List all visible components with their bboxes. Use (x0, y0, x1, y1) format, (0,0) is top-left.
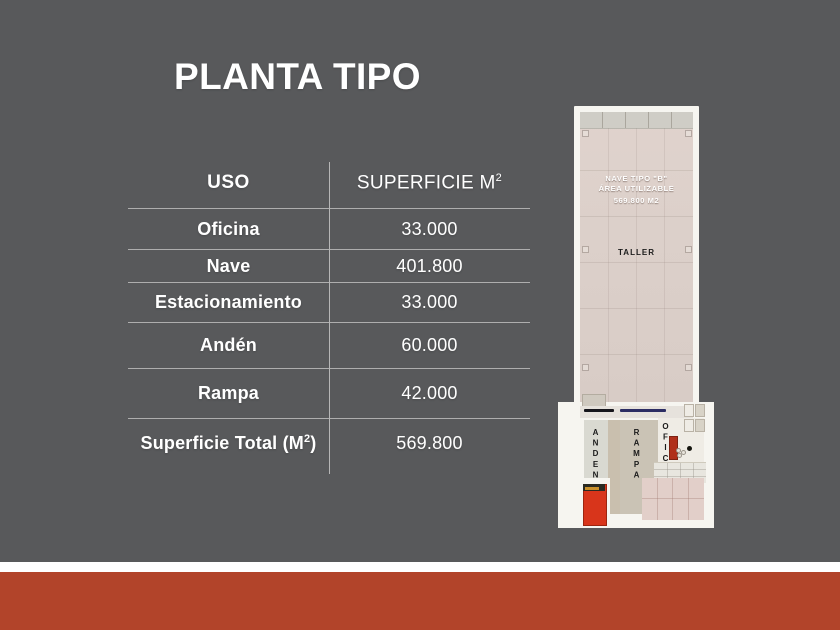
row-surface-estacionamiento: 33.000 (329, 283, 530, 323)
row-surface-rampa: 42.000 (329, 369, 530, 419)
floor-plan-image: NAVE TIPO "B" ÁREA UTILIZABLE 569.800 M2… (558, 106, 714, 528)
header-surface-superscript: 2 (496, 172, 502, 184)
row-surface-oficina: 33.000 (329, 209, 530, 250)
nave-label-line2: ÁREA UTILIZABLE (580, 184, 693, 194)
page-title: PLANTA TIPO (174, 57, 421, 98)
total-label-tail: ) (310, 433, 316, 453)
total-label-text: Superficie Total (M (140, 433, 303, 453)
row-surface-total: 569.800 (329, 419, 530, 469)
row-use-rampa: Rampa (128, 369, 329, 419)
header-use: USO (128, 158, 329, 209)
row-surface-nave: 401.800 (329, 250, 530, 283)
loading-dock-strip (580, 406, 693, 418)
nave-label-line3: 569.800 M2 (580, 196, 693, 206)
roof-truss-band (580, 112, 693, 129)
bottom-white-band (0, 562, 840, 572)
office-fixture (687, 446, 692, 451)
slide-canvas: PLANTA TIPO USO SUPERFICIE M2 Oficina 33… (0, 0, 840, 630)
truck-cab-detail (585, 487, 599, 490)
anden-label: ANDEN (591, 428, 600, 481)
taller-label: TALLER (580, 248, 693, 257)
table-column-divider (329, 162, 330, 474)
row-use-oficina: Oficina (128, 209, 329, 250)
row-use-estacionamiento: Estacionamiento (128, 283, 329, 323)
rampa-label: RAMPA (632, 428, 641, 481)
nave-label-line1: NAVE TIPO "B" (580, 174, 693, 184)
dock-door (620, 409, 666, 412)
row-use-nave: Nave (128, 250, 329, 283)
row-use-total: Superficie Total (M2) (128, 419, 329, 469)
header-surface-text: SUPERFICIE M (357, 172, 496, 193)
nave-interior: NAVE TIPO "B" ÁREA UTILIZABLE 569.800 M2… (580, 112, 693, 406)
office-chairs (676, 448, 686, 456)
bottom-accent-band (0, 572, 840, 630)
surface-area-table: USO SUPERFICIE M2 Oficina 33.000 Nave 40… (128, 158, 530, 473)
row-use-anden: Andén (128, 323, 329, 369)
parking-tile-zone (642, 478, 704, 520)
row-surface-anden: 60.000 (329, 323, 530, 369)
header-surface: SUPERFICIE M2 (329, 158, 530, 209)
dock-door (584, 409, 614, 412)
